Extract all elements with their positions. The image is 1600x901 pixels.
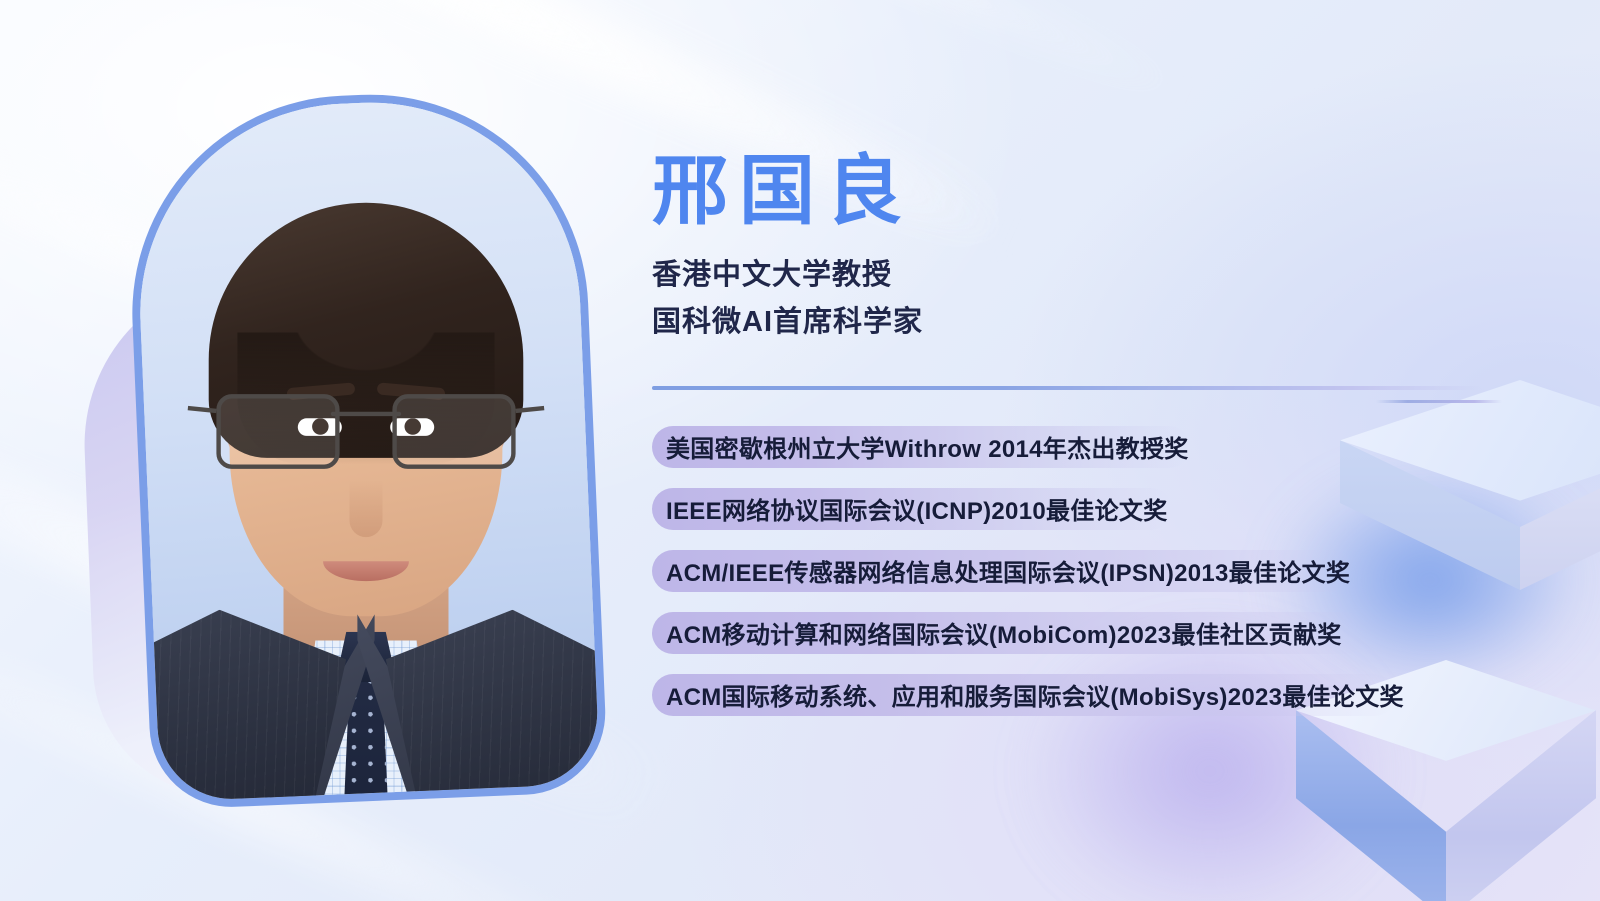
photo-nose (350, 480, 383, 537)
photo-glasses-lens-left (216, 394, 339, 469)
photo-glasses (216, 394, 515, 464)
awards-list: 美国密歇根州立大学Withrow 2014年杰出教授奖 IEEE网络协议国际会议… (652, 426, 1532, 716)
photo-glasses-lens-right (392, 394, 515, 469)
portrait-photo (132, 94, 601, 802)
award-item: ACM国际移动系统、应用和服务国际会议(MobiSys)2023最佳论文奖 (652, 674, 1532, 716)
person-title-2: 国科微AI首席科学家 (652, 299, 1532, 346)
person-title-1: 香港中文大学教授 (652, 252, 1532, 299)
poster-canvas: 邢国良 香港中文大学教授 国科微AI首席科学家 美国密歇根州立大学Withrow… (0, 0, 1600, 901)
section-divider (652, 386, 1484, 390)
person-name: 邢国良 (652, 150, 1532, 234)
award-item: 美国密歇根州立大学Withrow 2014年杰出教授奖 (652, 426, 1532, 468)
photo-glasses-bridge (331, 412, 401, 416)
award-item: ACM移动计算和网络国际会议(MobiCom)2023最佳社区贡献奖 (652, 612, 1532, 654)
award-label: 美国密歇根州立大学Withrow 2014年杰出教授奖 (652, 429, 1189, 464)
award-label: IEEE网络协议国际会议(ICNP)2010最佳论文奖 (652, 491, 1168, 526)
award-item: ACM/IEEE传感器网络信息处理国际会议(IPSN)2013最佳论文奖 (652, 550, 1532, 592)
award-item: IEEE网络协议国际会议(ICNP)2010最佳论文奖 (652, 488, 1532, 530)
portrait-photo-frame (132, 94, 601, 802)
award-label: ACM国际移动系统、应用和服务国际会议(MobiSys)2023最佳论文奖 (652, 677, 1404, 712)
profile-content: 邢国良 香港中文大学教授 国科微AI首席科学家 美国密歇根州立大学Withrow… (652, 150, 1532, 736)
award-label: ACM移动计算和网络国际会议(MobiCom)2023最佳社区贡献奖 (652, 615, 1342, 650)
award-label: ACM/IEEE传感器网络信息处理国际会议(IPSN)2013最佳论文奖 (652, 553, 1350, 588)
person-titles: 香港中文大学教授 国科微AI首席科学家 (652, 252, 1532, 346)
portrait-group (88, 255, 588, 820)
